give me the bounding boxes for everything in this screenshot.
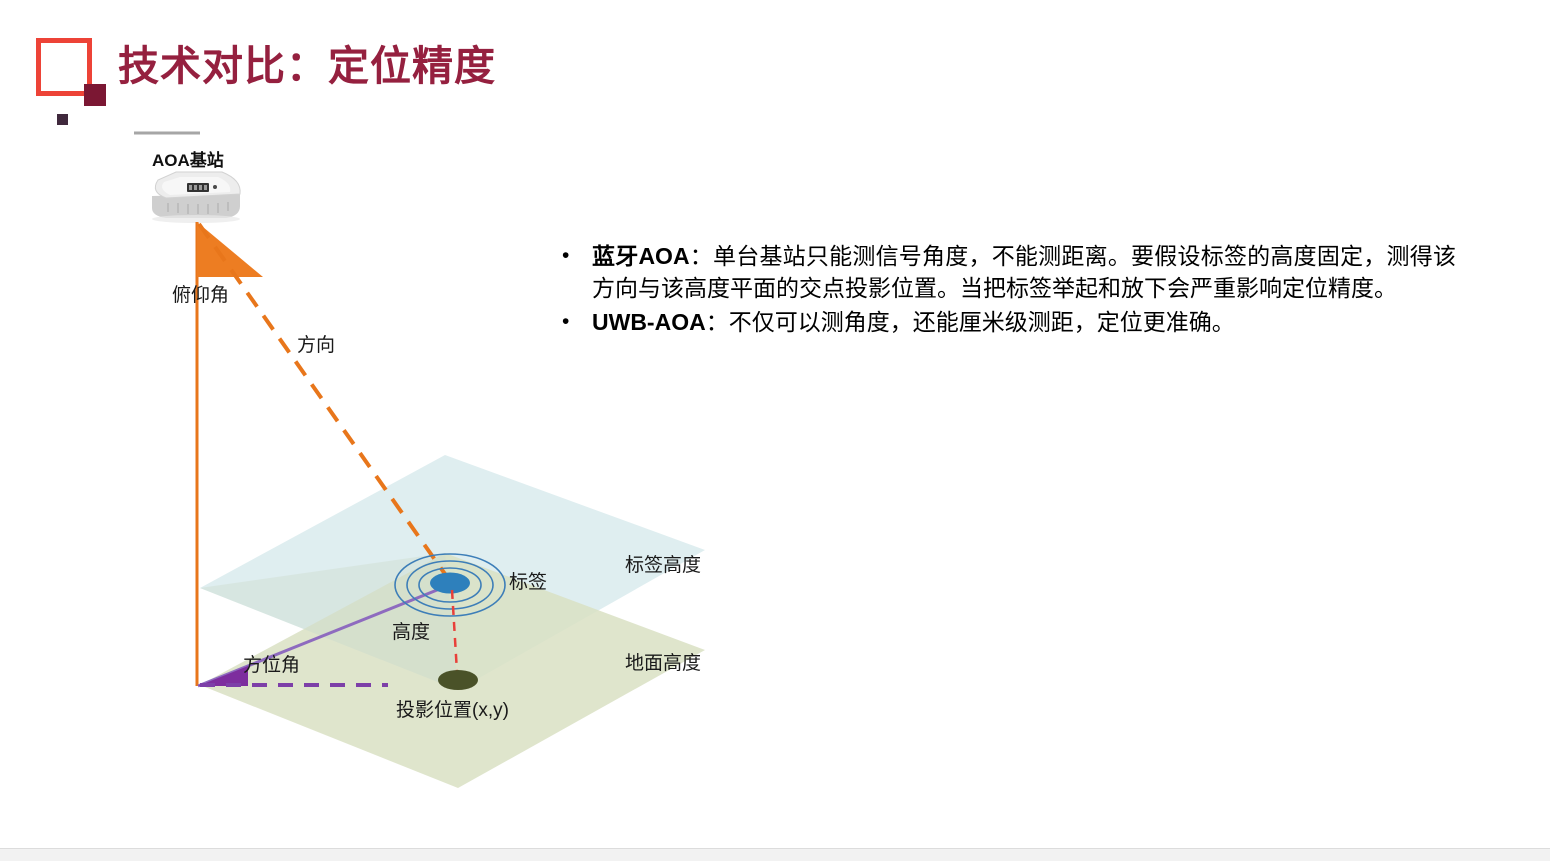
list-item: • 蓝牙AOA：单台基站只能测信号角度，不能测距离。要假设标签的高度固定，测得该… xyxy=(556,240,1456,304)
slide-canvas: 技术对比：定位精度 xyxy=(0,0,1550,860)
positioning-diagram: AOA基站 俯仰角 方向 方位角 标签 高度 标签高度 地面高度 投影位置(x,… xyxy=(0,0,800,860)
bullet-marker-icon: • xyxy=(556,306,592,338)
label-pitch-angle: 俯仰角 xyxy=(172,285,229,308)
projection-point-marker xyxy=(438,670,478,690)
label-tag-height-plane: 标签高度 xyxy=(625,555,701,578)
bullet-body: ：不仅可以测角度，还能厘米级测距，定位更准确。 xyxy=(706,309,1235,335)
label-ground-height-plane: 地面高度 xyxy=(625,653,701,676)
footer-strip xyxy=(0,848,1550,861)
label-azimuth-angle: 方位角 xyxy=(243,655,300,678)
bullet-body: ：单台基站只能测信号角度，不能测距离。要假设标签的高度固定，测得该方向与该高度平… xyxy=(592,243,1456,301)
bullet-text: 蓝牙AOA：单台基站只能测信号角度，不能测距离。要假设标签的高度固定，测得该方向… xyxy=(592,240,1456,304)
label-projection-position: 投影位置(x,y) xyxy=(396,700,509,723)
label-aoa-base-station: AOA基站 xyxy=(152,146,224,171)
bullet-text: UWB-AOA：不仅可以测角度，还能厘米级测距，定位更准确。 xyxy=(592,306,1456,338)
bullet-marker-icon: • xyxy=(556,240,592,272)
bullet-list: • 蓝牙AOA：单台基站只能测信号角度，不能测距离。要假设标签的高度固定，测得该… xyxy=(556,240,1456,340)
bullet-bold-prefix: 蓝牙AOA xyxy=(592,243,690,269)
label-height: 高度 xyxy=(392,622,430,645)
tag-marker xyxy=(430,573,470,594)
bullet-bold-prefix: UWB-AOA xyxy=(592,309,706,335)
label-tag: 标签 xyxy=(509,572,547,595)
diagram-svg xyxy=(0,0,800,860)
label-direction: 方向 xyxy=(297,335,335,358)
list-item: • UWB-AOA：不仅可以测角度，还能厘米级测距，定位更准确。 xyxy=(556,306,1456,338)
pitch-angle-wedge xyxy=(197,222,263,277)
aoa-base-station-device-icon xyxy=(152,172,240,223)
